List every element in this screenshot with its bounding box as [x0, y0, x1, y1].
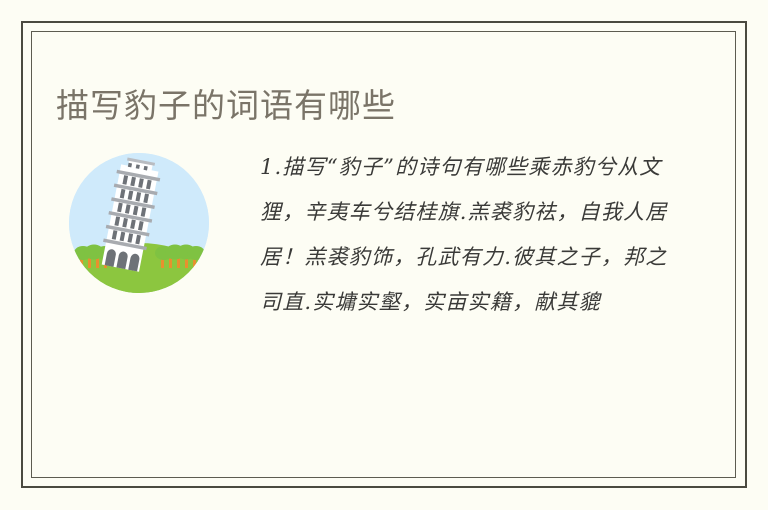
article-thumbnail[interactable]: [69, 153, 209, 293]
tree-right-group: [155, 245, 205, 269]
page-root: 描写豹子的词语有哪些: [0, 0, 768, 510]
page-title: 描写豹子的词语有哪些: [56, 86, 396, 126]
article-paragraph: 1.描写“豹子”的诗句有哪些乘赤豹兮从文狸，辛夷车兮结桂旗.羔裘豹祛，自我人居居…: [260, 145, 676, 325]
leaning-tower-of-pisa-icon: [69, 153, 209, 293]
article-body: 1.描写“豹子”的诗句有哪些乘赤豹兮从文狸，辛夷车兮结桂旗.羔裘豹祛，自我人居居…: [56, 145, 676, 415]
